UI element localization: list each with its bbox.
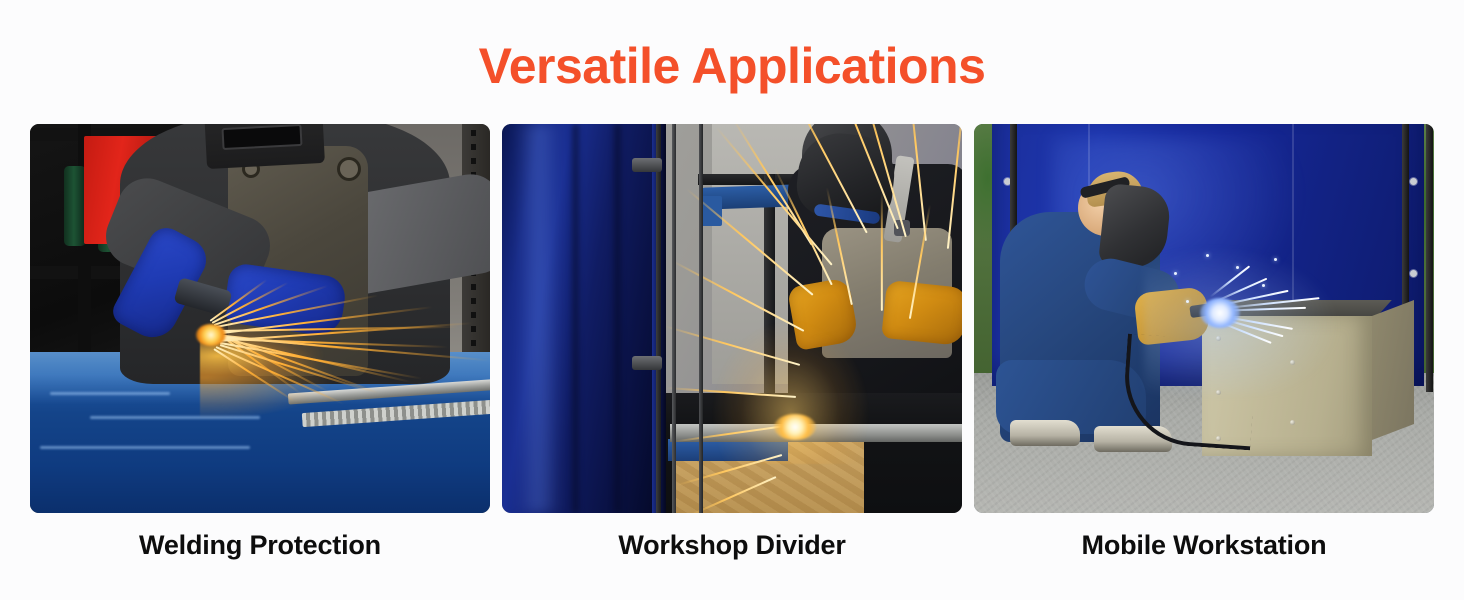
application-card-grid: Welding Protection: [30, 124, 1436, 574]
box-rivet: [1290, 420, 1295, 425]
steel-box-side: [1372, 300, 1414, 440]
mobile-workstation-image: [974, 124, 1434, 513]
curtain-clamp: [632, 158, 662, 172]
curtain-rail: [672, 124, 676, 513]
blue-welding-curtain: [502, 124, 652, 513]
curtain-highlight: [516, 124, 562, 513]
curtain-rail: [656, 124, 661, 513]
versatile-applications-section: Versatile Applications: [0, 0, 1464, 600]
curtain-fold: [572, 124, 579, 513]
curtain-fold: [614, 124, 621, 513]
spark-streaks: [30, 124, 490, 513]
spark-dot: [1186, 300, 1189, 303]
welding-arc: [1200, 298, 1240, 328]
application-card-mobile-workstation: Mobile Workstation: [974, 124, 1434, 574]
screen-frame-post: [1426, 124, 1433, 392]
application-card-welding-protection: Welding Protection: [30, 124, 490, 574]
screen-grommet: [1410, 270, 1417, 277]
spark-dot: [1274, 258, 1277, 261]
grinding-spark-source: [774, 414, 816, 440]
page-title: Versatile Applications: [0, 38, 1464, 94]
curtain-clamp: [632, 356, 662, 370]
workshop-divider-image: [502, 124, 962, 513]
application-card-workshop-divider: Workshop Divider: [502, 124, 962, 574]
grinding-spark-source: [196, 324, 226, 346]
curtain-rail: [699, 124, 703, 513]
screen-grommet: [1410, 178, 1417, 185]
card-caption-mobile-workstation: Mobile Workstation: [974, 527, 1434, 563]
spark-dot: [1174, 272, 1177, 275]
spark-dot: [1262, 284, 1265, 287]
spark-dot: [1206, 254, 1209, 257]
spark-dot: [1236, 266, 1239, 269]
welding-protection-image: [30, 124, 490, 513]
card-caption-workshop-divider: Workshop Divider: [502, 527, 962, 563]
work-shoe: [1010, 420, 1080, 446]
card-caption-welding-protection: Welding Protection: [30, 527, 490, 563]
